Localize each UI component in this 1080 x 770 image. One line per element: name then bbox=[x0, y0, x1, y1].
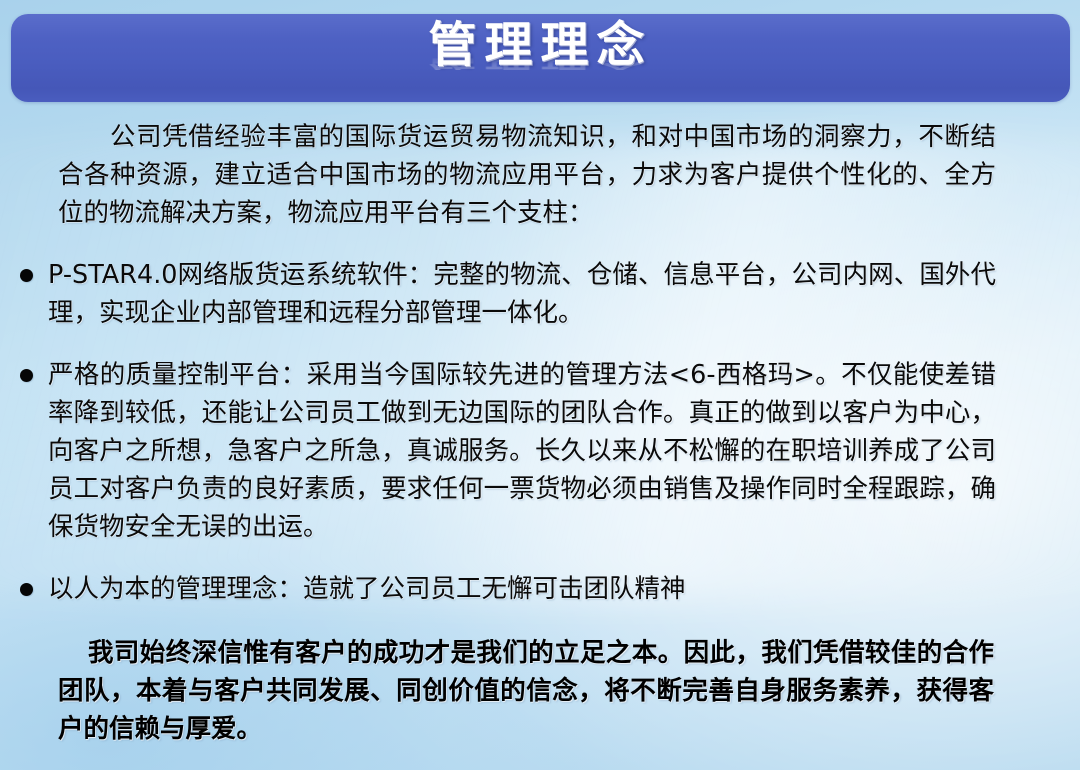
bullet-dot-icon bbox=[20, 369, 33, 382]
slide-content: 公司凭借经验丰富的国际货运贸易物流知识，和对中国市场的洞察力，不断结合各种资源，… bbox=[0, 118, 1080, 748]
bullet-item-text: 严格的质量控制平台：采用当今国际较先进的管理方法<6-西格玛>。不仅能使差错率降… bbox=[48, 356, 996, 546]
list-item: P-STAR4.0网络版货运系统软件：完整的物流、仓储、信息平台，公司内网、国外… bbox=[20, 256, 996, 332]
title-block: 管理理念 管理理念 bbox=[11, 18, 1070, 102]
title-banner: 管理理念 管理理念 bbox=[11, 14, 1070, 102]
list-item: 以人为本的管理理念：造就了公司员工无懈可击团队精神 bbox=[20, 570, 996, 608]
bullet-item-text: P-STAR4.0网络版货运系统软件：完整的物流、仓储、信息平台，公司内网、国外… bbox=[48, 256, 996, 332]
list-item: 严格的质量控制平台：采用当今国际较先进的管理方法<6-西格玛>。不仅能使差错率降… bbox=[20, 356, 996, 546]
closing-paragraph: 我司始终深信惟有客户的成功才是我们的立足之本。因此，我们凭借较佳的合作团队，本着… bbox=[58, 634, 994, 748]
intro-paragraph: 公司凭借经验丰富的国际货运贸易物流知识，和对中国市场的洞察力，不断结合各种资源，… bbox=[58, 118, 996, 232]
bullet-item-text: 以人为本的管理理念：造就了公司员工无懈可击团队精神 bbox=[48, 570, 996, 608]
bullet-dot-icon bbox=[20, 583, 33, 596]
page-title: 管理理念 bbox=[428, 18, 652, 72]
bullet-dot-icon bbox=[20, 269, 33, 282]
slide-canvas: 管理理念 管理理念 公司凭借经验丰富的国际货运贸易物流知识，和对中国市场的洞察力… bbox=[0, 0, 1080, 770]
